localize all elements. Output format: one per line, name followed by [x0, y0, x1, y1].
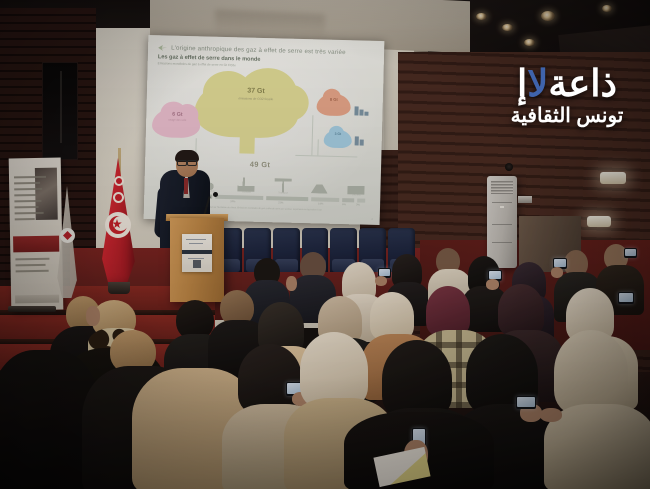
methane-label: 8 Gt	[317, 96, 351, 102]
building-icon: Bâtiments	[311, 179, 328, 193]
wall-control-box	[518, 196, 532, 203]
banner-text-line	[15, 218, 35, 220]
bar-segment	[311, 197, 339, 202]
sign-qr-code	[193, 260, 201, 268]
logo-text-suffix: ذاعة	[548, 63, 617, 104]
connector-line	[311, 115, 313, 155]
ac-seam	[492, 202, 512, 203]
methane-mini-bars	[354, 102, 369, 120]
sector-pct: 6%	[342, 203, 346, 206]
ceiling-spotlight	[502, 24, 513, 31]
ac-grill	[491, 181, 513, 194]
land-use-label: 6 Gt	[156, 111, 198, 118]
phone	[618, 292, 634, 304]
sign-band	[182, 250, 212, 254]
sector-pct: 14%	[318, 202, 323, 205]
logo-line-1: ذاعةلاإ	[492, 66, 642, 102]
cloud-trunk	[239, 125, 255, 153]
connector-line	[317, 139, 318, 155]
sign-text-line	[186, 239, 206, 240]
hijab	[498, 284, 544, 336]
sector-caption: Industrie	[234, 191, 260, 194]
banner-red-band	[13, 236, 59, 253]
banner-base	[8, 306, 56, 312]
nitrous-oxide-label: 3 Gt	[324, 132, 352, 137]
wooden-podium	[170, 218, 224, 302]
waste-icon: Déchets	[347, 180, 364, 194]
leaf-icon	[158, 45, 167, 51]
glasses-icon	[177, 160, 197, 164]
sign-text-line	[189, 243, 203, 244]
hijab	[382, 340, 452, 418]
transport-icon: Transport	[274, 178, 291, 192]
logo-line-2: تونس الثقافية	[492, 103, 642, 128]
banner-text-line	[14, 194, 36, 196]
ceiling-spotlight	[476, 13, 487, 20]
banner-footer	[15, 295, 59, 304]
hand	[540, 408, 562, 422]
slide-page-number: 4	[371, 218, 373, 221]
sector-pct: 3%	[356, 203, 360, 206]
sector-caption: Bâtiments	[307, 193, 333, 196]
event-sign	[182, 234, 212, 272]
wall-lamp	[587, 216, 611, 227]
hijab	[300, 332, 368, 408]
phone	[624, 248, 637, 258]
industry-icon: Industrie	[238, 177, 255, 191]
phone	[516, 396, 536, 409]
rollup-banner	[9, 158, 64, 311]
flag-stand	[108, 282, 130, 294]
connector-line	[295, 155, 357, 157]
banner-text-line	[15, 258, 49, 260]
hijab	[554, 330, 628, 414]
hand	[486, 279, 499, 290]
nitrous-mini-bars	[354, 132, 364, 150]
bar-segment	[357, 198, 365, 202]
hand	[551, 267, 563, 278]
hand	[375, 276, 387, 286]
sector-pct: 24%	[230, 200, 235, 203]
ceiling-spotlight	[602, 5, 612, 12]
hand	[286, 276, 297, 291]
logo-text-accent: لا	[527, 63, 548, 104]
ac-indicator	[500, 206, 504, 208]
ceiling-spotlight	[541, 11, 555, 21]
banner-text-line	[16, 264, 46, 266]
institution-flag-emblem	[60, 228, 75, 243]
wall-speaker-panel	[42, 62, 78, 160]
air-conditioner	[487, 176, 517, 268]
flag-fold-emblem	[113, 192, 124, 203]
ceiling-spotlight	[524, 39, 535, 46]
sector-pct: 21%	[278, 201, 283, 204]
presenter-tie	[184, 178, 188, 194]
ac-seam	[492, 242, 512, 243]
sector-caption: Déchets	[343, 194, 369, 197]
sector-caption: Transport	[270, 192, 296, 195]
microphone-head	[213, 192, 218, 197]
hand	[86, 306, 100, 326]
hijab	[426, 286, 470, 336]
flag-fold-emblem	[114, 176, 124, 186]
bar-segment	[342, 198, 354, 202]
hijab	[370, 292, 414, 340]
radio-station-logo: ذاعةلاإ تونس الثقافية	[492, 66, 642, 140]
ac-seam	[492, 224, 512, 225]
soffit-shadow	[215, 10, 325, 41]
logo-text-prefix: إ	[517, 63, 527, 104]
conference-photo: L'origine anthropique des gaz à effet de…	[0, 0, 650, 489]
connector-line	[195, 138, 196, 152]
wall-vent	[505, 163, 513, 171]
banner-text-line	[16, 270, 49, 272]
wall-lamp	[600, 172, 626, 184]
